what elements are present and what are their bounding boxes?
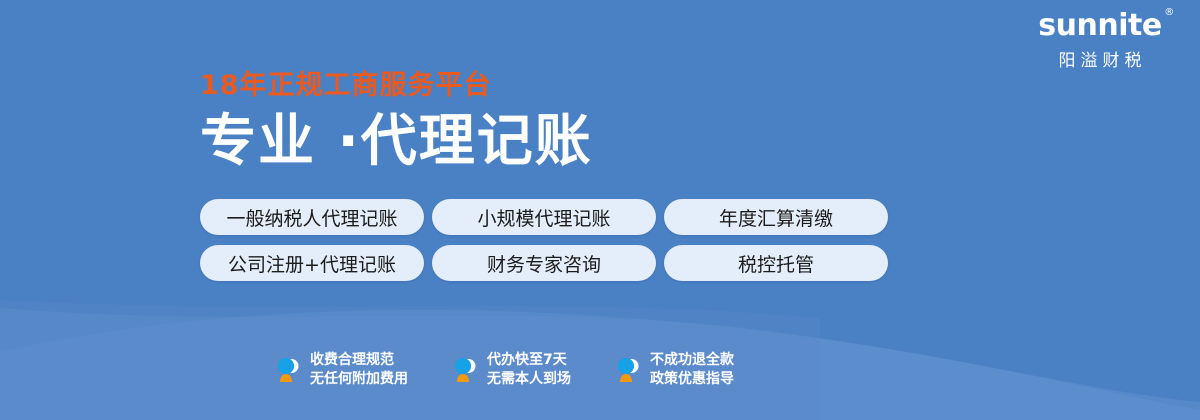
service-pill[interactable]: 年度汇算清缴 [664, 199, 888, 235]
hero-title: 专业 ·代理记账 [200, 111, 960, 174]
service-pill-list: 一般纳税人代理记账 小规模代理记账 年度汇算清缴 公司注册+代理记账 财务专家咨… [200, 199, 888, 281]
logo-wordmark-text: sunnite [1038, 8, 1161, 43]
service-pill[interactable]: 小规模代理记账 [432, 199, 656, 235]
logo-wordmark: sunnite ® [1038, 10, 1161, 42]
feature-line-1: 不成功退全款 [650, 352, 734, 368]
feature-item: 收费合理规范 无任何附加费用 [275, 351, 408, 389]
service-pill[interactable]: 财务专家咨询 [432, 245, 656, 281]
feature-line-2: 无任何附加费用 [310, 370, 408, 389]
person-highlight-icon [452, 355, 478, 385]
person-highlight-icon [275, 355, 301, 385]
service-pill[interactable]: 一般纳税人代理记账 [200, 199, 424, 235]
feature-line-1: 代办快至7天 [487, 352, 567, 368]
feature-line-1: 收费合理规范 [310, 352, 394, 368]
feature-line-2: 无需本人到场 [487, 370, 571, 389]
brand-logo[interactable]: sunnite ® 阳溢财税 [1020, 10, 1180, 71]
service-pill[interactable]: 税控托管 [664, 245, 888, 281]
hero-text-block: 18年正规工商服务平台 专业 ·代理记账 [200, 72, 960, 174]
logo-chinese-name: 阳溢财税 [1020, 46, 1180, 71]
hero-eyebrow: 18年正规工商服务平台 [200, 72, 960, 99]
person-highlight-icon [615, 355, 641, 385]
feature-item: 代办快至7天 无需本人到场 [452, 351, 571, 389]
feature-list: 收费合理规范 无任何附加费用 代办快至7天 无需本人到场 [275, 351, 734, 389]
feature-line-2: 政策优惠指导 [650, 370, 734, 389]
feature-text: 收费合理规范 无任何附加费用 [310, 351, 408, 389]
feature-text: 不成功退全款 政策优惠指导 [650, 351, 734, 389]
promo-banner: sunnite ® 阳溢财税 18年正规工商服务平台 专业 ·代理记账 一般纳税… [0, 0, 1200, 420]
service-pill[interactable]: 公司注册+代理记账 [200, 245, 424, 281]
feature-item: 不成功退全款 政策优惠指导 [615, 351, 734, 389]
registered-trademark-icon: ® [1164, 8, 1174, 18]
feature-text: 代办快至7天 无需本人到场 [487, 351, 571, 389]
